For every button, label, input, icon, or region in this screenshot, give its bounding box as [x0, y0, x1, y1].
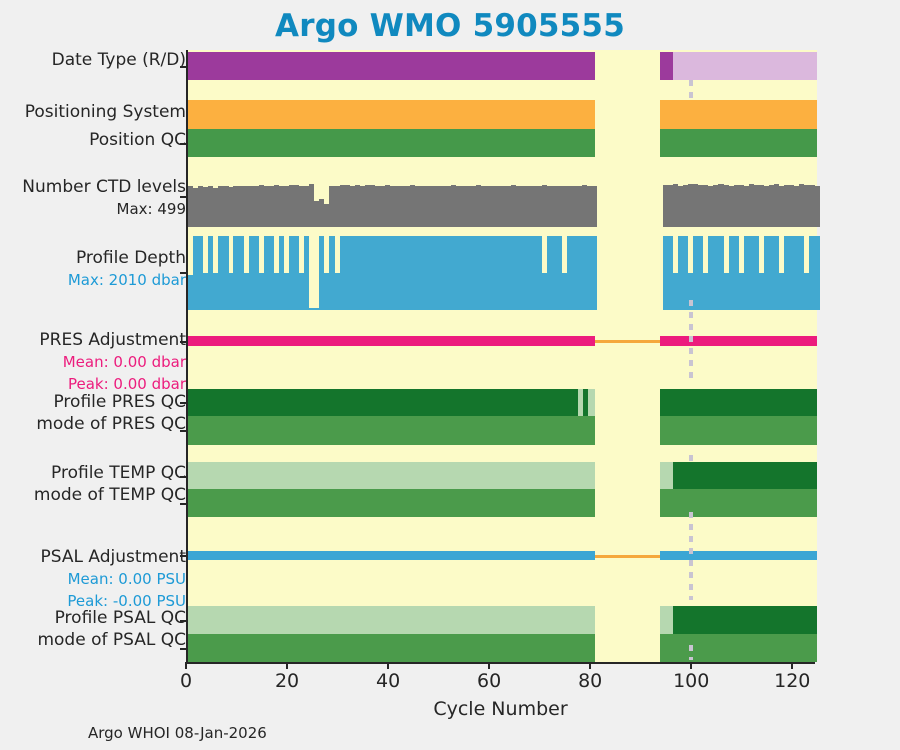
- x-axis-tick-label: 120: [774, 670, 810, 692]
- y-axis-tick: [180, 66, 187, 68]
- row-label-profile-temp-qc: Profile TEMP QC: [51, 463, 186, 484]
- row-label-mean-0-00-dbar: Mean: 0.00 dbar: [63, 352, 186, 373]
- band-1: [188, 416, 595, 445]
- row-label-max-499: Max: 499: [117, 199, 186, 220]
- x-axis-title: Cycle Number: [186, 698, 815, 720]
- band-1: [188, 634, 595, 662]
- row-label-position-qc: Position QC: [89, 130, 186, 151]
- x-axis-tick: [185, 662, 187, 669]
- band-D: [673, 52, 817, 80]
- band-A: [673, 606, 817, 634]
- track-date-type-r-d: [188, 52, 817, 80]
- x-axis-tick-label: 100: [673, 670, 709, 692]
- band-1: [660, 489, 817, 517]
- band-1: [660, 129, 817, 157]
- row-label-mode-of-psal-qc: mode of PSAL QC: [37, 630, 186, 651]
- track-positioning-system: [188, 100, 817, 129]
- band-B: [660, 606, 673, 634]
- track-profile-psal-qc: [188, 606, 817, 634]
- x-axis-tick-label: 0: [180, 670, 192, 692]
- adjustment-line: [660, 336, 817, 346]
- y-axis-tick: [180, 648, 187, 650]
- x-axis-tick: [286, 662, 288, 669]
- data-bar: [592, 236, 597, 310]
- x-axis-tick: [791, 662, 793, 669]
- band-A: [660, 389, 817, 416]
- zero-baseline: [595, 555, 661, 558]
- band-B: [660, 462, 673, 489]
- adjustment-line: [188, 551, 595, 560]
- y-axis-tick: [180, 620, 187, 622]
- y-axis-tick: [180, 555, 187, 557]
- zero-baseline: [595, 340, 661, 343]
- x-axis-line: [186, 662, 815, 664]
- data-bar: [304, 236, 309, 310]
- y-axis-tick: [180, 196, 187, 198]
- row-label-date-type-r-d: Date Type (R/D): [52, 50, 186, 71]
- y-axis-tick: [180, 272, 187, 274]
- row-label-pres-adjustment: PRES Adjustment: [39, 330, 186, 351]
- band-R: [188, 52, 595, 80]
- cycle-marker-line: [689, 300, 693, 380]
- track-profile-temp-qc: [188, 462, 817, 489]
- band-1: [660, 416, 817, 445]
- track-mode-of-pres-qc: [188, 416, 817, 445]
- page-title: Argo WMO 5905555: [0, 8, 900, 44]
- cycle-marker-line: [689, 512, 693, 600]
- x-axis-tick-label: 20: [275, 670, 299, 692]
- data-bar: [814, 186, 819, 227]
- band-B: [188, 606, 595, 634]
- row-label-mode-of-pres-qc: mode of PRES QC: [36, 414, 186, 435]
- track-pres-adjustment: [188, 336, 817, 346]
- x-axis-tick-label: 80: [578, 670, 602, 692]
- y-axis-tick: [180, 402, 187, 404]
- x-axis-tick: [589, 662, 591, 669]
- y-axis-tick: [180, 476, 187, 478]
- band-B: [188, 462, 595, 489]
- y-axis-tick: [180, 430, 187, 432]
- band-1: [188, 489, 595, 517]
- x-axis-tick: [690, 662, 692, 669]
- band-1: [660, 634, 817, 662]
- y-axis-tick: [180, 341, 187, 343]
- row-label-number-ctd-levels: Number CTD levels: [22, 177, 186, 198]
- data-bar: [814, 236, 819, 310]
- track-position-qc: [188, 129, 817, 157]
- row-label-profile-pres-qc: Profile PRES QC: [53, 392, 186, 413]
- row-label-mean-0-00-psu: Mean: 0.00 PSU: [68, 569, 186, 590]
- band-1: [188, 129, 595, 157]
- band-GPS: [660, 100, 817, 129]
- adjustment-line: [188, 336, 595, 346]
- y-axis-tick: [180, 143, 187, 145]
- track-number-ctd-levels: [188, 183, 817, 227]
- x-axis-tick: [488, 662, 490, 669]
- band-R: [660, 52, 673, 80]
- x-axis-tick-label: 60: [477, 670, 501, 692]
- cycle-marker-line: [689, 80, 693, 100]
- footer-credit: Argo WHOI 08-Jan-2026: [88, 724, 267, 742]
- chart-plot-area: [186, 50, 817, 662]
- data-bar: [592, 186, 597, 227]
- row-label-profile-depth: Profile Depth: [76, 248, 186, 269]
- adjustment-line: [660, 551, 817, 560]
- row-label-positioning-system: Positioning System: [25, 102, 186, 123]
- band-B: [588, 389, 595, 416]
- band-A: [673, 462, 817, 489]
- x-axis-tick-label: 40: [376, 670, 400, 692]
- x-axis-tick: [387, 662, 389, 669]
- row-label-mode-of-temp-qc: mode of TEMP QC: [34, 485, 186, 506]
- track-mode-of-temp-qc: [188, 489, 817, 517]
- track-psal-adjustment: [188, 551, 817, 560]
- row-label-max-2010-dbar: Max: 2010 dbar: [68, 270, 186, 291]
- row-label-psal-adjustment: PSAL Adjustment: [41, 547, 186, 568]
- track-profile-depth: [188, 236, 817, 310]
- track-mode-of-psal-qc: [188, 634, 817, 662]
- band-GPS: [188, 100, 595, 129]
- row-label-profile-psal-qc: Profile PSAL QC: [55, 608, 186, 629]
- band-A: [188, 389, 578, 416]
- cycle-marker-line: [689, 645, 693, 660]
- y-axis-tick: [180, 503, 187, 505]
- cycle-marker-line: [689, 455, 693, 465]
- track-profile-pres-qc: [188, 389, 817, 416]
